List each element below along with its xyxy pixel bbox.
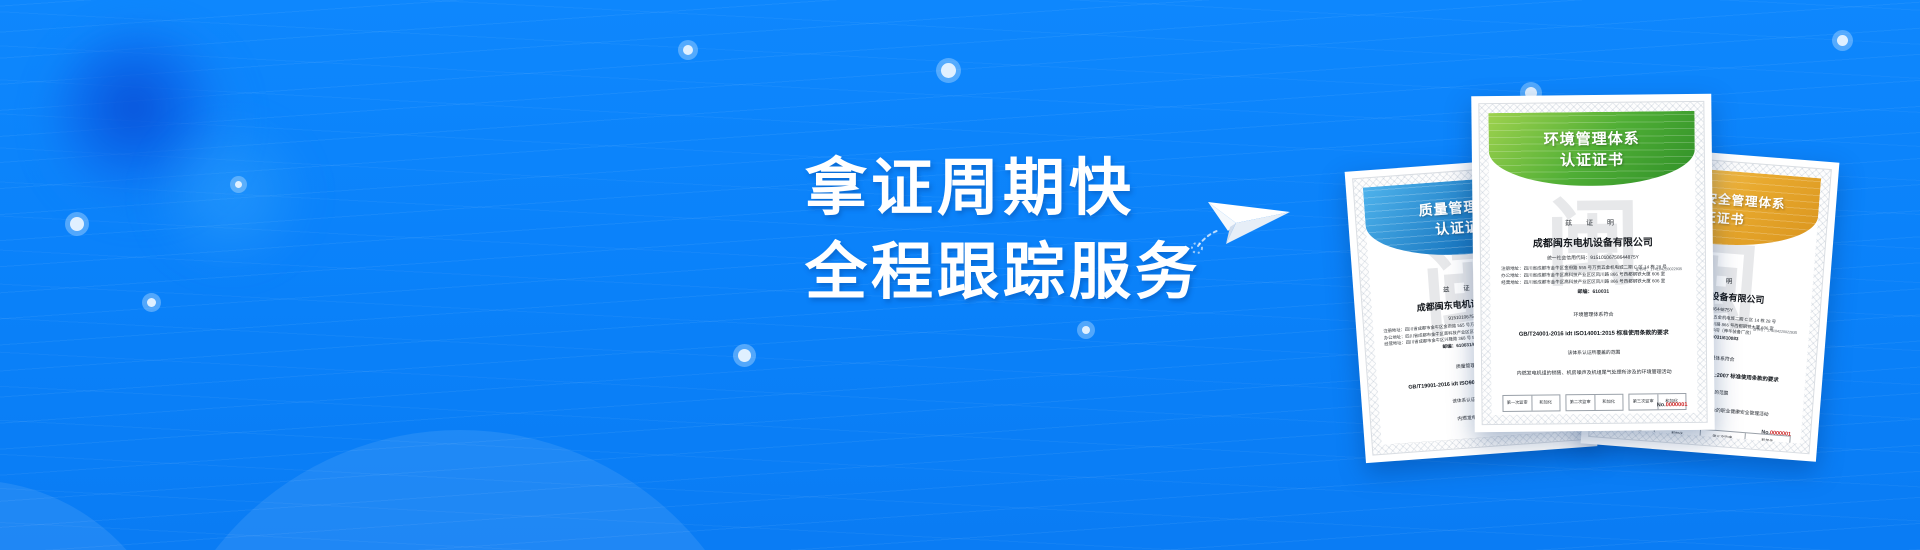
certificate-company: 成都闽东电机设备有限公司	[1501, 233, 1685, 250]
certificate-address-3: 经营地址：四川省成都市金牛区高科技产业区区风川路 866 号西都钢铁大厦 606…	[1501, 278, 1685, 287]
certificate-certify-label: 兹 证 明	[1501, 217, 1685, 229]
headline-line-1: 拿证周期快	[805, 147, 1201, 231]
promo-banner: 拿证周期快 全程跟踪服务 闽 质量管理体系 认证证书	[0, 0, 1920, 550]
decorative-dot	[1837, 35, 1848, 46]
certificate-system-label: 环境管理体系符合	[1502, 310, 1686, 319]
decorative-dot	[738, 349, 751, 362]
certificate-postcode: 邮编：610031	[1501, 287, 1685, 296]
certificate-title-line1: 环境管理体系	[1544, 128, 1640, 150]
certificate-header-environment: 环境管理体系 认证证书	[1488, 111, 1695, 187]
certificate-number: 证书号：174104220022935	[1635, 267, 1682, 272]
audit-cell: 和加化	[1531, 395, 1560, 410]
bottom-large-circle	[150, 430, 770, 550]
certificate-scope: 内燃发电机组的销售、机房噪声及机组尾气处理所涉及的环境管理活动	[1502, 368, 1686, 377]
headline-block: 拿证周期快 全程跟踪服务	[805, 147, 1201, 315]
audit-cell: 第三次监审	[1629, 394, 1657, 409]
headline-line-2: 全程跟踪服务	[805, 231, 1201, 315]
audit-cell: 第二次监审	[1566, 395, 1594, 410]
certificate-serial: No.0000001	[1657, 402, 1688, 408]
audit-cell: 第一次监审	[1503, 396, 1531, 411]
certificate-environment[interactable]: 闽 环境管理体系 认证证书 证书号：174104220022935 兹 证 明 …	[1471, 94, 1715, 432]
top-left-soft-glow	[150, 120, 310, 270]
decorative-dot	[941, 63, 956, 78]
certificate-scope-label: 该体系认证所覆盖的范围	[1502, 348, 1686, 357]
certificate-group: 闽 质量管理体系 认证证书 兹 证 明 成都闽东电机设备有限公司 9151010…	[1355, 95, 1920, 475]
decorative-dot	[683, 45, 693, 55]
decorative-dot	[235, 181, 242, 188]
decorative-dot	[70, 217, 84, 231]
decorative-dot	[147, 298, 156, 307]
bottom-left-circle	[0, 480, 180, 550]
certificate-title-line2: 认证证书	[1560, 149, 1624, 171]
audit-cell: 和加化	[1594, 395, 1623, 410]
certificate-credit-code: 统一社会信用代码：91510106758644875Y	[1501, 253, 1685, 262]
paper-plane-icon	[1190, 182, 1300, 262]
decorative-dot	[1082, 326, 1090, 334]
certificate-standard: GB/T24001-2016 idt ISO14001:2015 标准使用条款的…	[1502, 327, 1686, 338]
